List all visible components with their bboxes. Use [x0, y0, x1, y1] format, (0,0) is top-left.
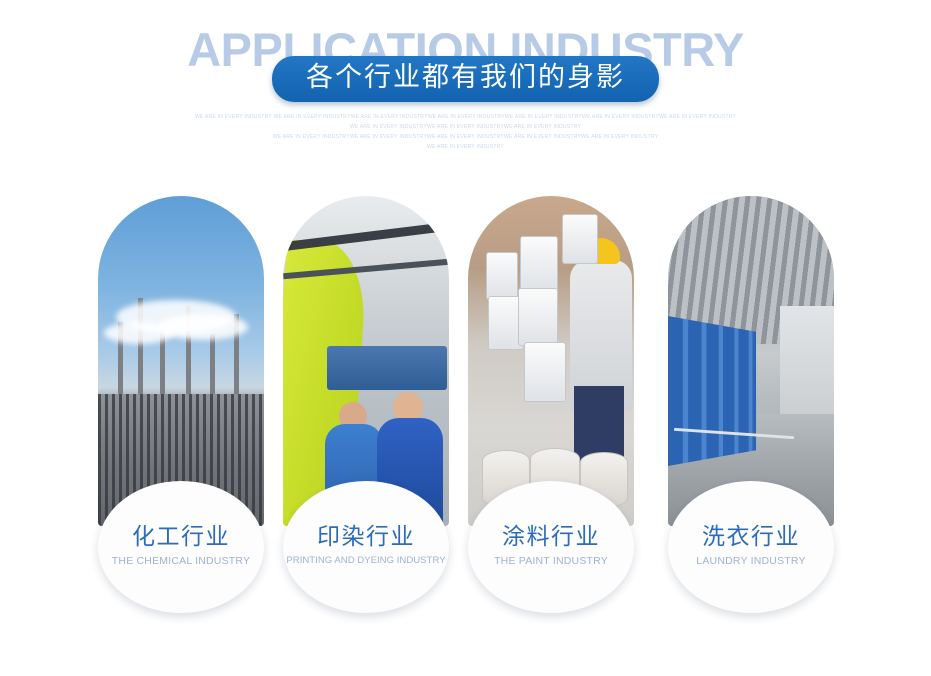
- watermark-text-block: WE ARE IN EVERY INDUSTRY WE ARE IN EVERY…: [0, 112, 931, 152]
- industrial-laundry-photo: [668, 196, 834, 526]
- industry-badge-chemical[interactable]: 化工行业 THE CHEMICAL INDUSTRY: [98, 481, 264, 613]
- chemical-plant-photo: [98, 196, 264, 526]
- industry-name-en: PRINTING AND DYEING INDUSTRY: [286, 555, 445, 566]
- watermark-line: WE ARE IN EVERY INDUSTRY WE ARE IN EVERY…: [0, 112, 931, 122]
- watermark-line: WE ARE IN EVERY INDUSTRYWE ARE IN EVERY …: [0, 122, 931, 132]
- industry-name-cn: 洗衣行业: [702, 525, 800, 550]
- industry-card-grid: 化工行业 THE CHEMICAL INDUSTRY 印染行业 PRINTING…: [0, 196, 931, 636]
- industry-badge-paint[interactable]: 涂料行业 THE PAINT INDUSTRY: [468, 481, 634, 613]
- industry-name-en: LAUNDRY INDUSTRY: [696, 555, 805, 567]
- industry-card-chemical[interactable]: [98, 196, 264, 526]
- tagline-pill: 各个行业都有我们的身影: [272, 56, 659, 102]
- industry-name-en: THE PAINT INDUSTRY: [494, 555, 608, 567]
- industry-badge-laundry[interactable]: 洗衣行业 LAUNDRY INDUSTRY: [668, 481, 834, 613]
- industry-name-cn: 印染行业: [317, 525, 415, 550]
- watermark-line: WE ARE IN EVERY INDUSTRYWE ARE IN EVERY …: [0, 132, 931, 142]
- paint-bucket-warehouse-photo: [468, 196, 634, 526]
- industry-name-en: THE CHEMICAL INDUSTRY: [112, 555, 250, 567]
- industry-name-cn: 涂料行业: [502, 525, 600, 550]
- industry-badge-printing-dyeing[interactable]: 印染行业 PRINTING AND DYEING INDUSTRY: [283, 481, 449, 613]
- industry-card-laundry[interactable]: [668, 196, 834, 526]
- watermark-line: WE ARE IN EVERY INDUSTRY: [0, 142, 931, 152]
- tagline-banner: 各个行业都有我们的身影: [0, 56, 931, 102]
- printing-dyeing-factory-photo: [283, 196, 449, 526]
- page-header: APPLICATION INDUSTRY 各个行业都有我们的身影 WE ARE …: [0, 0, 931, 180]
- industry-card-paint[interactable]: [468, 196, 634, 526]
- industry-card-printing-dyeing[interactable]: [283, 196, 449, 526]
- industry-name-cn: 化工行业: [132, 525, 230, 550]
